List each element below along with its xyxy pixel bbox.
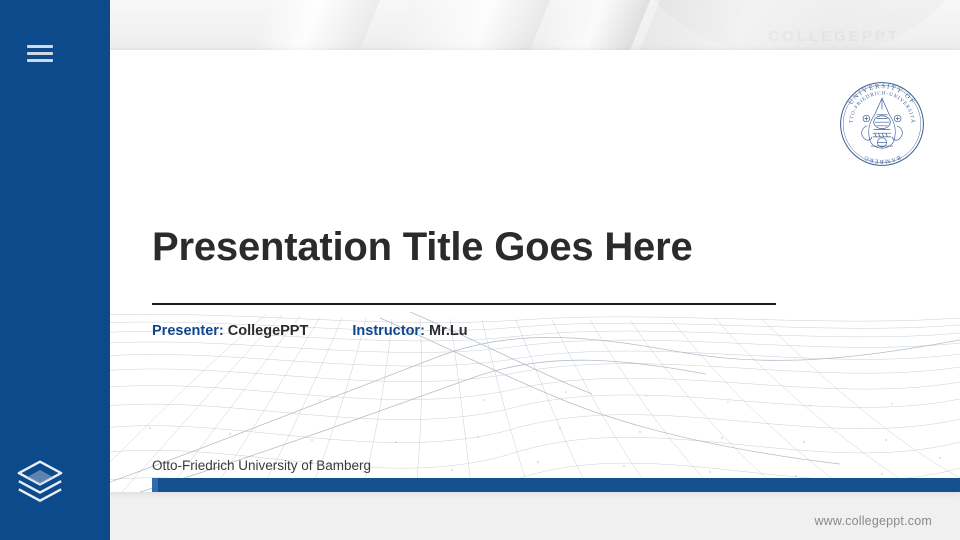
hamburger-menu-icon[interactable] (27, 44, 53, 64)
svg-text:BAMBERG: BAMBERG (863, 154, 902, 164)
slide-canvas: COLLEGEPPT (0, 0, 960, 540)
title-divider (152, 303, 776, 305)
hamburger-line-1 (27, 45, 53, 48)
website-url: www.collegeppt.com (814, 514, 932, 528)
backdrop-watermark: COLLEGEPPT (768, 28, 900, 45)
credits-line: Presenter: CollegePPT Instructor: Mr.Lu (152, 323, 468, 339)
page-title: Presentation Title Goes Here (152, 225, 693, 270)
backdrop-top-band: COLLEGEPPT (0, 0, 960, 50)
left-rail (0, 0, 110, 540)
organization-name: Otto-Friedrich University of Bamberg (152, 458, 371, 473)
stacked-books-logo-icon[interactable] (14, 456, 66, 508)
instructor-value: Mr.Lu (429, 323, 468, 339)
instructor-label: Instructor: (352, 323, 425, 339)
presenter-label: Presenter: (152, 323, 224, 339)
presentation-slide: UNIVERSITY OF BAMBERG OTTO-FRIEDRICH-UNI… (80, 50, 960, 492)
hamburger-line-3 (27, 59, 53, 62)
hamburger-line-2 (27, 52, 53, 55)
presenter-value: CollegePPT (228, 323, 309, 339)
slide-bottom-bar (152, 478, 960, 492)
university-seal-icon: UNIVERSITY OF BAMBERG OTTO-FRIEDRICH-UNI… (836, 78, 928, 170)
backdrop-ribbon-1 (206, 0, 405, 50)
